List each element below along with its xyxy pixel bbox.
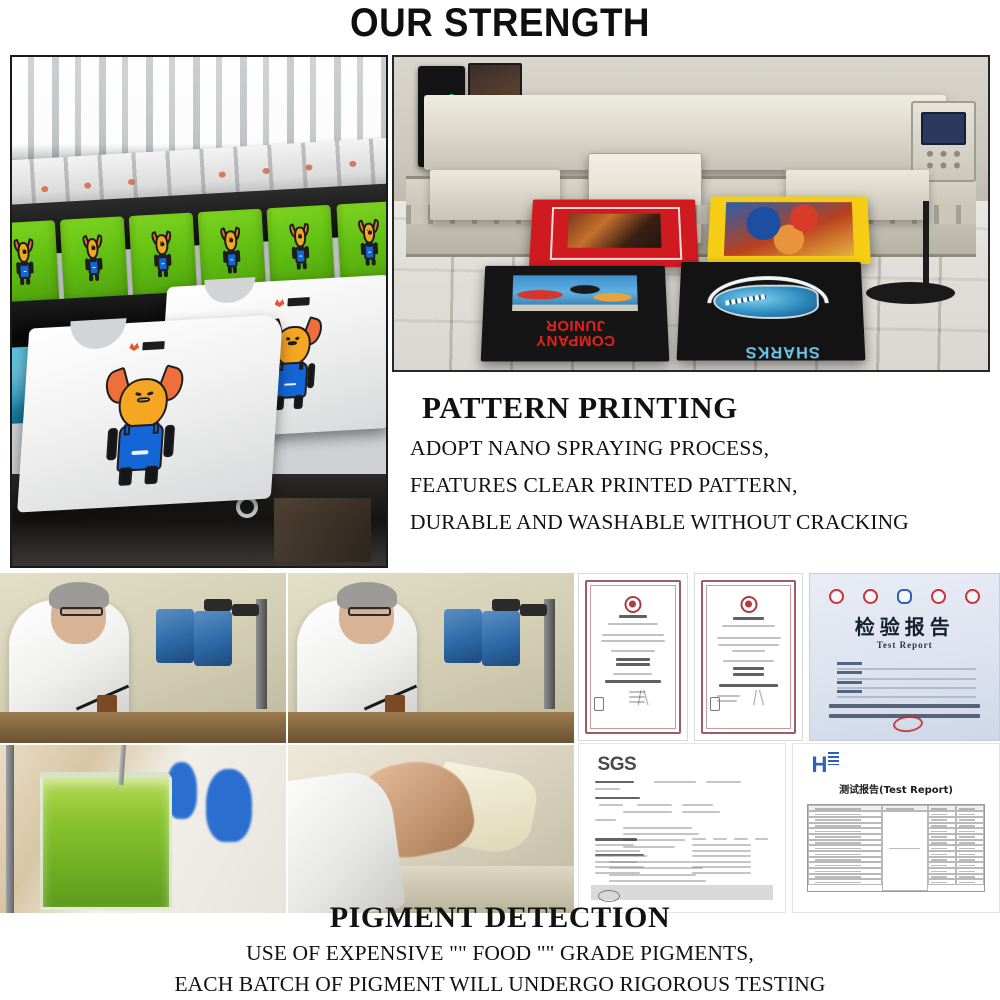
- pattern-printing-line-1: ADOPT NANO SPRAYING PROCESS,: [392, 430, 1000, 467]
- junior-company-line-1: JUNIOR: [545, 318, 605, 333]
- certificate-strip: 检验报告 Test Report: [578, 573, 1000, 741]
- junior-company-line-2: COMPANY: [535, 333, 615, 348]
- shark-teeth: [725, 294, 766, 306]
- sgs-test-report: SGS: [578, 743, 786, 913]
- conveyor-scene: [12, 57, 386, 566]
- bull-mascot-print: [100, 364, 184, 490]
- pigment-detection-text-block: PIGMENT DETECTION USE OF EXPENSIVE "" FO…: [0, 898, 1000, 1000]
- control-panel-buttons[interactable]: [921, 146, 965, 172]
- signature-mark: [739, 690, 778, 705]
- print-platen-yellow: [707, 196, 871, 263]
- glass-beaker-green-pigment: [40, 772, 172, 910]
- h-logo-mark: [828, 752, 839, 765]
- page-title: OUR STRENGTH: [40, 0, 960, 50]
- printed-shirt-sharks: SHARKS: [677, 262, 866, 361]
- certificates-row-bottom: SGS: [578, 743, 1000, 913]
- pigment-detection-heading: PIGMENT DETECTION: [0, 898, 1000, 938]
- iso-mark-icon: [897, 589, 912, 604]
- photo-green-pigment-beaker: [0, 745, 286, 913]
- test-report-fields: [837, 662, 977, 705]
- bull-horn-icon: [129, 342, 140, 351]
- blue-stirrer-motor: [194, 611, 232, 666]
- test-report-title-cn: 检验报告: [810, 611, 999, 640]
- stand-rod: [6, 745, 14, 913]
- eyeglasses: [348, 607, 391, 616]
- bull-horn-icon: [274, 299, 285, 308]
- sharks-artwork: [704, 276, 838, 331]
- junior-company-text: COMPANY JUNIOR: [496, 320, 653, 347]
- ccc-mark-icon: [931, 589, 946, 604]
- support-pole: [923, 201, 929, 289]
- lab-clamp: [520, 604, 548, 616]
- control-panel-screen: [921, 112, 965, 144]
- lab-equipment: [437, 597, 563, 716]
- shark-head: [713, 285, 820, 319]
- red-platen-artwork: [567, 214, 661, 248]
- certificate-strip: SGS: [578, 743, 1000, 913]
- cqc-mark-icon: [965, 589, 980, 604]
- signature-mark: [624, 690, 663, 705]
- lab-clamp: [492, 599, 520, 611]
- lab-equipment: [149, 597, 275, 716]
- brand-wordmark: [287, 297, 309, 306]
- printed-shirt-junior-company: COMPANY JUNIOR: [481, 265, 670, 361]
- bull-mascot-print: [83, 233, 105, 282]
- sgs-logo: SGS: [598, 754, 637, 776]
- pattern-printing-line-3: DURABLE AND WASHABLE WITHOUT CRACKING: [392, 504, 1000, 541]
- lab-clamp: [204, 599, 232, 611]
- lab-clamp: [232, 604, 260, 616]
- pattern-printing-heading: PATTERN PRINTING: [392, 386, 1000, 430]
- sgs-results-table: [595, 838, 768, 888]
- photo-dtg-flatbed-printer: COMPANY JUNIOR SHARKS: [392, 55, 990, 372]
- pigment-detection-line-1: USE OF EXPENSIVE "" FOOD "" GRADE PIGMEN…: [0, 938, 1000, 969]
- print-platen-red: [529, 199, 699, 266]
- iso-certificate-en: [694, 573, 804, 741]
- photo-lab-scientist-right: [288, 573, 574, 743]
- approval-seal-icon: [624, 596, 641, 613]
- photo-screen-printing-conveyor: [10, 55, 388, 568]
- h-report-title: 测试报告(Test Report): [793, 781, 999, 796]
- h-logo-letter: H: [812, 752, 828, 777]
- pattern-printing-line-2: FEATURES CLEAR PRINTED PATTERN,: [392, 467, 1000, 504]
- blue-stirrer-motor: [482, 611, 520, 666]
- print-pallet: [10, 220, 60, 310]
- pigment-detection-line-2: EACH BATCH OF PIGMENT WILL UNDERGO RIGOR…: [0, 969, 1000, 1000]
- lab-bench: [288, 712, 574, 743]
- pattern-printing-text-block: PATTERN PRINTING ADOPT NANO SPRAYING PRO…: [392, 386, 1000, 541]
- blue-stirrer-motor: [444, 609, 482, 664]
- brand-lockup: [274, 297, 309, 307]
- bull-mascot-print: [359, 218, 381, 267]
- certificates-row-top: 检验报告 Test Report: [578, 573, 1000, 741]
- eyeglasses: [60, 607, 103, 616]
- hand-sample-scene: [288, 745, 574, 913]
- bull-mascot-print: [290, 222, 312, 271]
- sharks-text: SHARKS: [711, 334, 855, 361]
- junior-company-artwork: [513, 275, 638, 311]
- bull-mascot-print: [152, 230, 174, 279]
- approval-seal-icon: [740, 596, 757, 613]
- ccc-mark-icon: [829, 589, 844, 604]
- photo-lab-scientist-left: [0, 573, 286, 743]
- h-results-table: [807, 804, 984, 891]
- brand-wordmark: [142, 341, 164, 350]
- certification-badges: [829, 586, 980, 608]
- test-report-title-en: Test Report: [810, 640, 999, 650]
- h-lab-logo: H: [812, 752, 840, 778]
- bull-mascot-print: [14, 237, 36, 286]
- print-pallet: [60, 217, 128, 307]
- test-report-cn: 检验报告 Test Report: [809, 573, 1000, 741]
- blue-stirrer-motor: [156, 609, 194, 664]
- certificate-footer-mark: [710, 697, 720, 711]
- dtg-printer-scene: COMPANY JUNIOR SHARKS: [394, 57, 988, 370]
- bull-mascot-print: [221, 226, 243, 275]
- yellow-platen-artwork: [724, 201, 855, 255]
- lab-scene: [0, 573, 286, 743]
- lab-bench: [0, 712, 286, 743]
- iso-certificate-cn: [578, 573, 688, 741]
- beaker-scene: [0, 745, 286, 913]
- brand-lockup: [129, 341, 164, 351]
- lab-scene: [288, 573, 574, 743]
- printed-tshirt: [17, 314, 283, 512]
- certificate-footer-mark: [594, 697, 604, 711]
- cqc-mark-icon: [863, 589, 878, 604]
- photo-hand-fabric-sample: [288, 745, 574, 913]
- blue-equipment-blur: [206, 769, 252, 843]
- h-test-report: H 测试报告(Test Report): [792, 743, 1000, 913]
